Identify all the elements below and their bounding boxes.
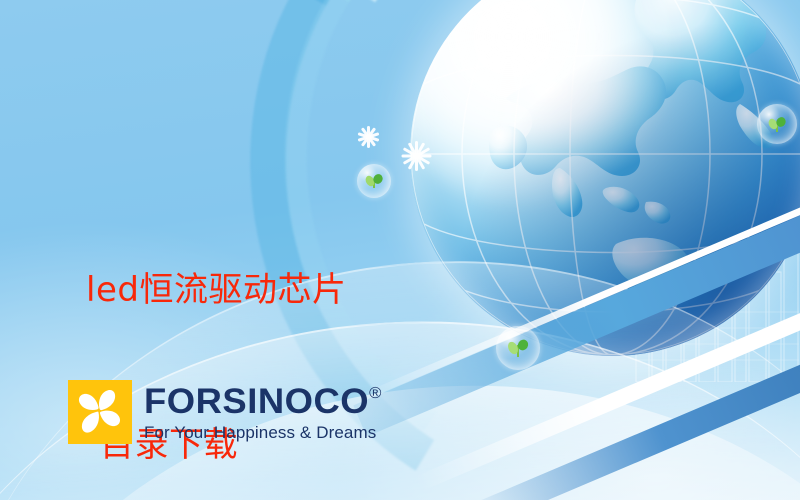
sparkle-star-icon <box>357 126 379 148</box>
city-skyline-icon <box>630 192 800 382</box>
brand-wordmark: FORSINOCO® <box>144 384 386 419</box>
brand-text: FORSINOCO® For Your Happiness & Dreams <box>144 384 376 441</box>
page-title: led恒流驱动芯片 目录下载 <box>86 162 506 500</box>
headline-line-primary: led恒流驱动芯片 <box>86 265 506 317</box>
bubble-sprout-icon <box>757 104 797 144</box>
registered-mark: ® <box>369 386 382 402</box>
diagonal-stripe <box>465 304 800 500</box>
brand-name: FORSINOCO <box>144 384 369 419</box>
pinwheel-flower-icon <box>68 380 132 444</box>
brand-tagline: For Your Happiness & Dreams <box>144 424 376 441</box>
promo-banner: led恒流驱动芯片 目录下载 FORSINOCO® For Your Happi… <box>0 0 800 500</box>
brand-logo[interactable]: FORSINOCO® For Your Happiness & Dreams <box>68 380 376 444</box>
